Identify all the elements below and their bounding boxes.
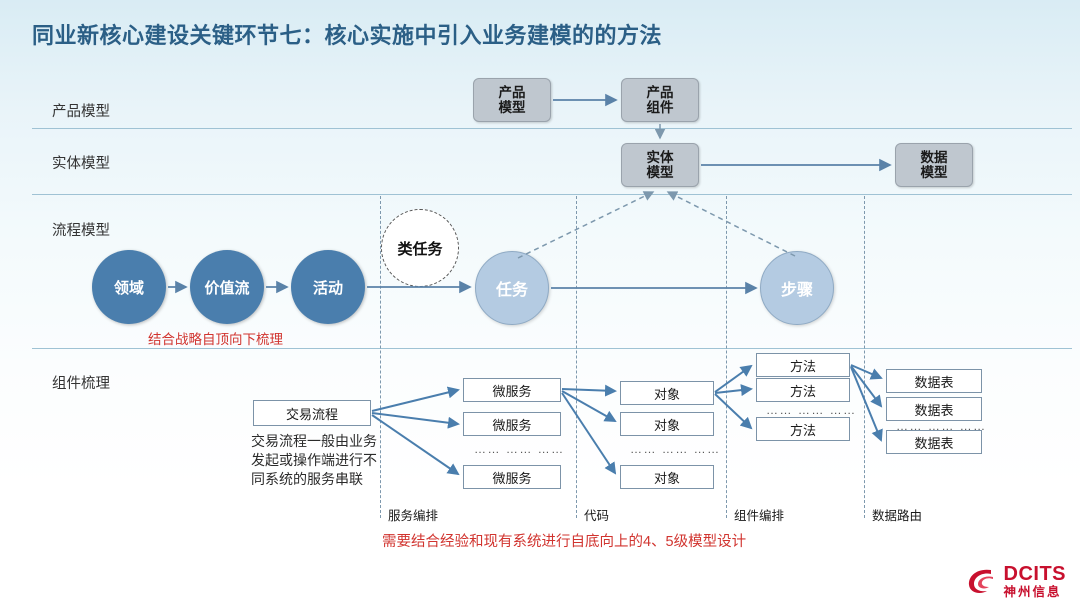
box-product-model-line1: 产品 xyxy=(499,85,526,100)
column-label-component-orchestration: 组件编排 xyxy=(734,505,784,524)
box-data-model-line1: 数据 xyxy=(921,150,948,165)
slide-canvas: 同业新核心建设关键环节七：核心实施中引入业务建模的的方法 产品模型 实体模型 流… xyxy=(0,0,1080,608)
row-label-process-model: 流程模型 xyxy=(52,219,110,240)
ellipsis-methods: …… …… …… xyxy=(766,403,857,417)
box-product-model-line2: 模型 xyxy=(499,100,526,115)
ellipsis-data-tables: …… …… …… xyxy=(896,419,987,433)
box-method-3[interactable]: 方法 xyxy=(756,417,850,441)
note-top-down-strategy: 结合战略自顶向下梳理 xyxy=(148,328,283,348)
box-object-2[interactable]: 对象 xyxy=(620,412,714,436)
row-label-entity-model: 实体模型 xyxy=(52,152,110,173)
page-title: 同业新核心建设关键环节七：核心实施中引入业务建模的的方法 xyxy=(32,18,662,50)
circle-domain[interactable]: 领域 xyxy=(92,250,166,324)
swimlane-divider-2 xyxy=(32,194,1072,195)
circle-value-stream[interactable]: 价值流 xyxy=(190,250,264,324)
note-bottom-up-design: 需要结合经验和现有系统进行自底向上的4、5级模型设计 xyxy=(382,530,746,551)
brand-logo: DCITS 神州信息 xyxy=(965,564,1067,599)
box-product-component-line2: 组件 xyxy=(647,100,674,115)
box-data-model-line2: 模型 xyxy=(921,165,948,180)
column-label-data-routing: 数据路由 xyxy=(872,505,922,524)
column-separator-2 xyxy=(576,196,577,518)
box-data-model[interactable]: 数据 模型 xyxy=(895,143,973,187)
box-method-1[interactable]: 方法 xyxy=(756,353,850,377)
box-entity-model-line2: 模型 xyxy=(647,165,674,180)
column-separator-4 xyxy=(864,196,865,518)
logo-text-en: DCITS xyxy=(1004,564,1067,584)
dcits-swirl-icon xyxy=(965,564,999,598)
column-label-code: 代码 xyxy=(584,505,609,524)
row-label-product-model: 产品模型 xyxy=(52,100,110,121)
swimlane-divider-1 xyxy=(32,128,1072,129)
box-microservice-2[interactable]: 微服务 xyxy=(463,412,561,436)
box-data-table-1[interactable]: 数据表 xyxy=(886,369,982,393)
row-label-component-breakdown: 组件梳理 xyxy=(52,372,110,393)
box-product-model[interactable]: 产品 模型 xyxy=(473,78,551,122)
box-microservice-3[interactable]: 微服务 xyxy=(463,465,561,489)
box-method-2[interactable]: 方法 xyxy=(756,378,850,402)
circle-task-class[interactable]: 类任务 xyxy=(381,209,459,287)
column-separator-3 xyxy=(726,196,727,518)
ellipsis-objects: …… …… …… xyxy=(630,442,721,456)
swimlane-divider-3 xyxy=(32,348,1072,349)
logo-text-cn: 神州信息 xyxy=(1004,586,1067,599)
box-entity-model[interactable]: 实体 模型 xyxy=(621,143,699,187)
ellipsis-microservices: …… …… …… xyxy=(474,442,565,456)
box-entity-model-line1: 实体 xyxy=(647,150,674,165)
circle-activity[interactable]: 活动 xyxy=(291,250,365,324)
box-data-table-2[interactable]: 数据表 xyxy=(886,397,982,421)
box-product-component[interactable]: 产品 组件 xyxy=(621,78,699,122)
note-trade-flow-description: 交易流程一般由业务发起或操作端进行不同系统的服务串联 xyxy=(251,432,386,488)
circle-step[interactable]: 步骤 xyxy=(760,251,834,325)
box-product-component-line1: 产品 xyxy=(647,85,674,100)
box-data-table-3[interactable]: 数据表 xyxy=(886,430,982,454)
box-object-1[interactable]: 对象 xyxy=(620,381,714,405)
column-label-service-orchestration: 服务编排 xyxy=(388,505,438,524)
box-microservice-1[interactable]: 微服务 xyxy=(463,378,561,402)
box-object-3[interactable]: 对象 xyxy=(620,465,714,489)
box-trade-flow[interactable]: 交易流程 xyxy=(253,400,371,426)
circle-task[interactable]: 任务 xyxy=(475,251,549,325)
